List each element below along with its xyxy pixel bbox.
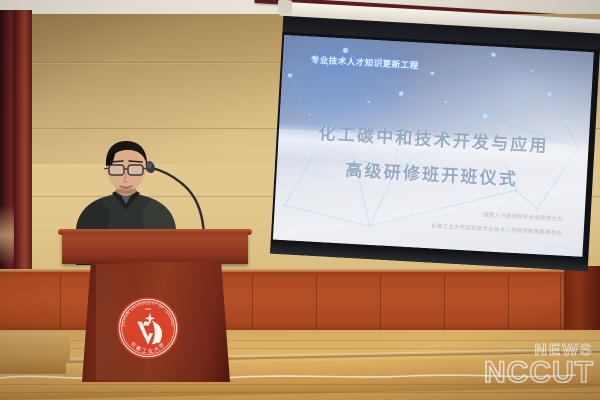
wainscot-plank [444, 274, 445, 332]
wainscot-plank [560, 274, 561, 332]
wall-pillar-red [14, 10, 32, 310]
projection-screen: 专业技术人才知识更新工程 化工碳中和技术开发与应用 高级研修班开班仪式 国家人力… [272, 4, 600, 279]
podium-top: 长春工业大学 [62, 232, 248, 264]
watermark-main-text: NCCUT [484, 356, 594, 390]
photo-scene: 专业技术人才知识更新工程 化工碳中和技术开发与应用 高级研修班开班仪式 国家人力… [0, 0, 600, 400]
news-watermark: NEWS NCCUT [452, 342, 594, 394]
university-emblem: CHANGCHUN UNIVERSITY OF TECHNOLOGY 长春工业大… [116, 296, 180, 360]
screen-frame: 专业技术人才知识更新工程 化工碳中和技术开发与应用 高级研修班开班仪式 国家人力… [270, 32, 600, 271]
wainscot-plank [316, 274, 317, 332]
wainscot-plank [60, 274, 61, 332]
stage-step-face [0, 352, 66, 374]
wainscot-plank [252, 274, 253, 332]
svg-text:1952: 1952 [145, 307, 152, 311]
wainscot-plank [508, 274, 509, 332]
slide-content: 专业技术人才知识更新工程 化工碳中和技术开发与应用 高级研修班开班仪式 国家人力… [273, 35, 594, 257]
pillar-highlight [0, 205, 14, 265]
screen-housing-cap [277, 0, 292, 14]
wainscot-plank [380, 274, 381, 332]
